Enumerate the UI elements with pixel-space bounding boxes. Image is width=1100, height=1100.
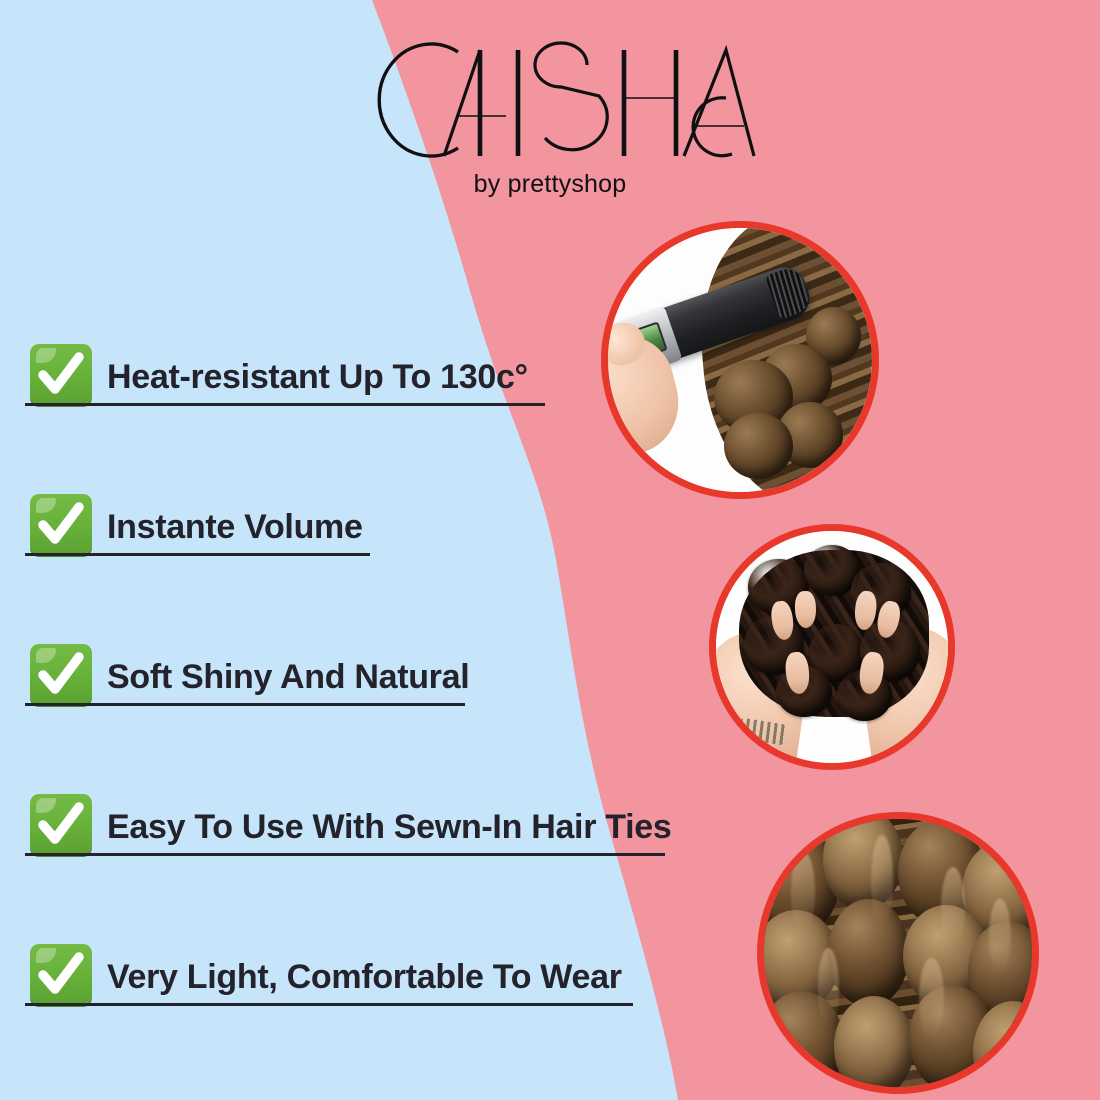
photo-curly-hair-texture xyxy=(764,819,1032,1087)
check-mark-green-icon xyxy=(30,794,92,854)
feature-list: Heat-resistant Up To 130c° Instante Volu… xyxy=(25,322,665,1004)
product-photo-curly-hair-texture xyxy=(757,812,1039,1094)
feature-underline xyxy=(25,553,370,556)
feature-item: Heat-resistant Up To 130c° xyxy=(25,322,665,404)
infographic-canvas: by prettyshop Heat-resistant Up To 130c° xyxy=(0,0,1100,1100)
check-mark-green-icon xyxy=(30,494,92,554)
check-mark-green-icon xyxy=(30,644,92,704)
check-glyph xyxy=(30,794,92,854)
feature-label: Heat-resistant Up To 130c° xyxy=(92,360,528,404)
photo-hands-holding-bun xyxy=(716,531,948,763)
feature-label: Instante Volume xyxy=(92,510,363,554)
feature-underline xyxy=(25,403,545,406)
feature-label: Easy To Use With Sewn-In Hair Ties xyxy=(92,810,672,854)
feature-item: Soft Shiny And Natural xyxy=(25,622,665,704)
feature-underline xyxy=(25,1003,633,1006)
feature-underline xyxy=(25,853,665,856)
feature-item: Instante Volume xyxy=(25,472,665,554)
check-mark-green-icon xyxy=(30,944,92,1004)
product-photo-hands-holding-bun xyxy=(709,524,955,770)
feature-underline xyxy=(25,703,465,706)
feature-item: Very Light, Comfortable To Wear xyxy=(25,922,665,1004)
check-glyph xyxy=(30,944,92,1004)
check-glyph xyxy=(30,344,92,404)
feature-label: Very Light, Comfortable To Wear xyxy=(92,960,622,1004)
check-glyph xyxy=(30,644,92,704)
check-glyph xyxy=(30,494,92,554)
feature-label: Soft Shiny And Natural xyxy=(92,660,469,704)
check-mark-green-icon xyxy=(30,344,92,404)
feature-item: Easy To Use With Sewn-In Hair Ties xyxy=(25,772,665,854)
